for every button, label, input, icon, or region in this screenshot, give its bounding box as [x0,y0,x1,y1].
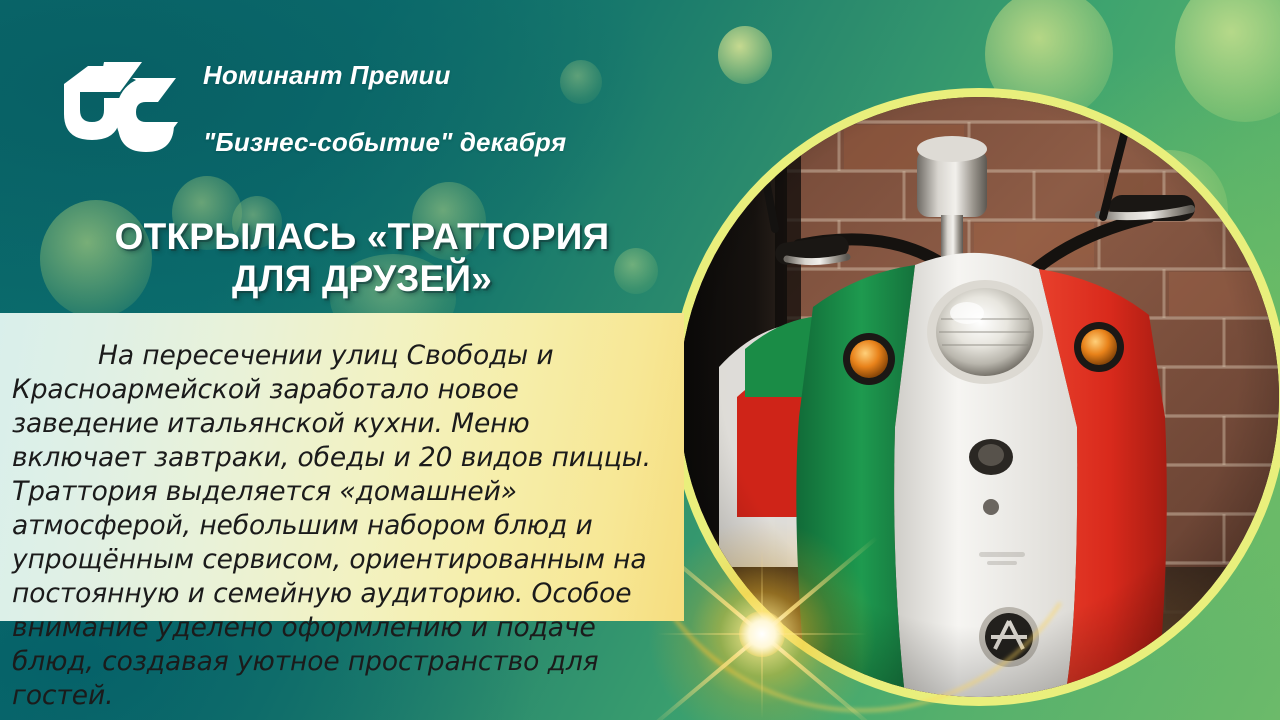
article-panel-inner: На пересечении улиц Свободы и Красноарме… [0,313,684,714]
poster-canvas: Номинант Премии "Бизнес-событие" декабря… [0,0,1280,720]
article-body: На пересечении улиц Свободы и Красноарме… [12,339,658,714]
page-title: ОТКРЫЛАСЬ «ТРАТТОРИЯ ДЛЯ ДРУЗЕЙ» [78,216,646,300]
header-title-line2: "Бизнес-событие" декабря [203,126,566,159]
bs-monogram-logo-icon [58,58,183,160]
header-title: Номинант Премии "Бизнес-событие" декабря [203,26,566,192]
scooter-photo [679,97,1279,697]
header: Номинант Премии "Бизнес-событие" декабря [58,26,566,192]
header-title-line1: Номинант Премии [203,59,566,92]
circular-photo-frame [670,88,1280,706]
article-panel: На пересечении улиц Свободы и Красноарме… [0,313,684,621]
